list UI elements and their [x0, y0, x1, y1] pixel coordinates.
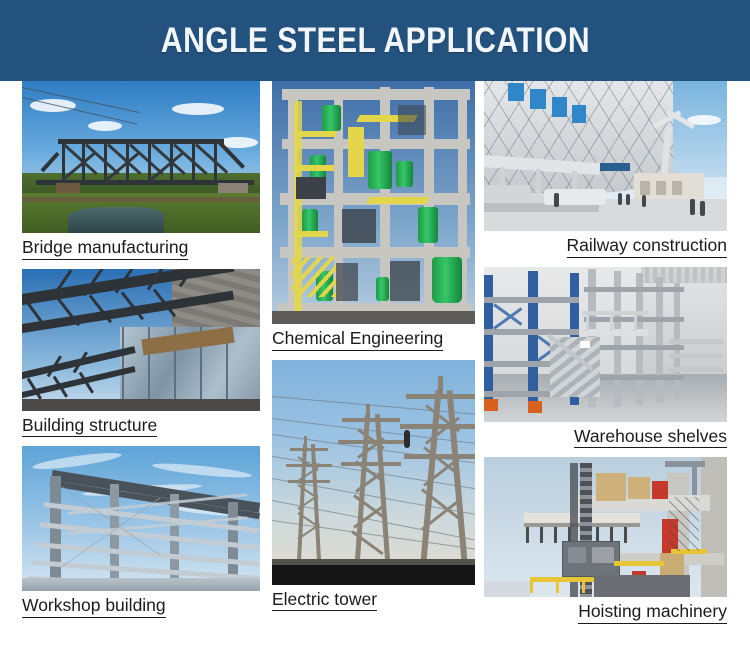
gallery-item-bridge-manufacturing[interactable]: Bridge manufacturing	[22, 81, 260, 264]
image-railway-construction	[484, 81, 727, 231]
caption-railway-construction: Railway construction	[484, 231, 727, 262]
gallery-item-electric-tower[interactable]: Electric tower	[272, 360, 475, 616]
caption-workshop-building: Workshop building	[22, 591, 260, 622]
caption-warehouse-shelves: Warehouse shelves	[484, 422, 727, 453]
gallery-column-left: Bridge manufacturing	[22, 81, 260, 622]
caption-building-structure: Building structure	[22, 411, 260, 442]
gallery-item-chemical-engineering[interactable]: Chemical Engineering	[272, 81, 475, 355]
caption-electric-tower: Electric tower	[272, 585, 475, 616]
caption-chemical-engineering: Chemical Engineering	[272, 324, 475, 355]
image-hoisting-machinery	[484, 457, 727, 597]
caption-hoisting-machinery: Hoisting machinery	[484, 597, 727, 628]
transmission-tower-near	[400, 376, 475, 562]
image-bridge-manufacturing	[22, 81, 260, 233]
gallery-item-railway-construction[interactable]: Railway construction	[484, 81, 727, 262]
gallery-item-workshop-building[interactable]: Workshop building	[22, 446, 260, 622]
gallery-item-warehouse-shelves[interactable]: Warehouse shelves	[484, 267, 727, 453]
transmission-tower-mid	[338, 404, 404, 562]
image-electric-tower	[272, 360, 475, 585]
application-gallery-grid: Bridge manufacturing	[0, 81, 750, 671]
gallery-item-building-structure[interactable]: Building structure	[22, 269, 260, 442]
page-header-banner: ANGLE STEEL APPLICATION	[0, 0, 750, 81]
image-building-structure	[22, 269, 260, 411]
transmission-tower-far	[286, 436, 332, 562]
page-title: ANGLE STEEL APPLICATION	[160, 21, 589, 61]
image-warehouse-shelves	[484, 267, 727, 422]
gallery-item-hoisting-machinery[interactable]: Hoisting machinery	[484, 457, 727, 628]
gallery-column-middle: Chemical Engineering	[272, 81, 475, 615]
caption-bridge-manufacturing: Bridge manufacturing	[22, 233, 260, 264]
gallery-column-right: Railway construction	[484, 81, 727, 628]
image-workshop-building	[22, 446, 260, 591]
image-chemical-engineering	[272, 81, 475, 324]
angle-steel-application-poster: ANGLE STEEL APPLICATION	[0, 0, 750, 671]
